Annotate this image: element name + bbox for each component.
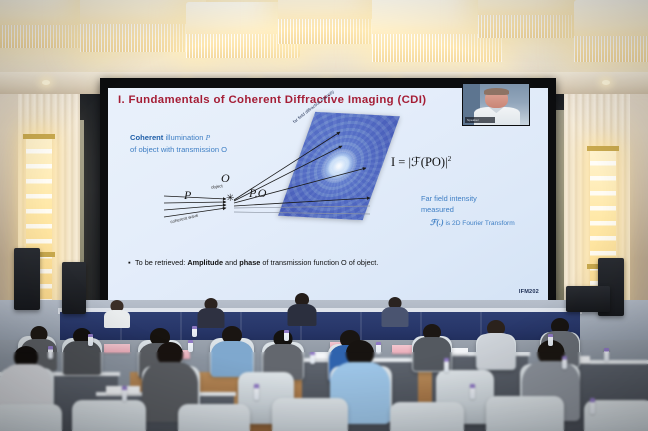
label-PO: P.O — [249, 186, 266, 201]
ft-symbol: ℱ(.) — [430, 218, 444, 227]
chair — [0, 404, 62, 431]
chair — [486, 396, 564, 431]
water-bottle — [188, 340, 193, 352]
chair — [178, 404, 250, 431]
ceiling-light-panel — [574, 0, 648, 62]
intro-rest: illumination — [163, 133, 205, 142]
equation-exponent: 2 — [448, 154, 452, 163]
loudspeaker-left — [14, 248, 40, 310]
stage-attendee — [382, 297, 408, 325]
slide-footer-logo: IFM202 — [519, 289, 539, 295]
water-bottle — [470, 384, 475, 399]
stage-attendee — [198, 298, 224, 326]
object-star-icon: ✳ — [226, 194, 235, 203]
water-bottle — [590, 398, 595, 414]
audience-member — [478, 320, 514, 370]
bullet-mid: and — [223, 258, 239, 267]
name-card — [104, 344, 130, 353]
audience-member — [64, 328, 100, 374]
intro-bold: Coherent — [130, 133, 163, 142]
diffraction-pattern-image — [278, 112, 400, 220]
bullet-bold-amplitude: Amplitude — [187, 258, 223, 267]
water-bottle — [562, 356, 567, 369]
water-bottle — [548, 334, 553, 346]
water-bottle — [444, 358, 449, 372]
bullet-bold-phase: phase — [239, 258, 260, 267]
downlight — [602, 80, 610, 85]
intro-symbol-P: P — [206, 133, 211, 142]
water-bottle — [122, 386, 127, 401]
far-field-caption: Far field intensity measured — [421, 193, 477, 215]
chair — [72, 400, 146, 431]
sconce-cap-top — [587, 146, 619, 151]
label-P: P — [184, 188, 191, 203]
ft-note-text: is 2D Fourier Transform — [444, 220, 515, 227]
intro-line2: of object with transmission O — [130, 145, 227, 154]
far-field-line1: Far field intensity — [421, 194, 477, 203]
bullet-pre: To be retrieved: — [135, 258, 187, 267]
av-equipment — [566, 286, 610, 312]
speaker-nametag-label: Speaker — [465, 117, 495, 122]
chair — [272, 398, 348, 431]
slide-intro-text: Coherent illumination P of object with t… — [130, 132, 227, 156]
speaker-nametag: Speaker — [465, 117, 495, 123]
sconce-cap-top — [23, 134, 55, 139]
water-bottle — [604, 348, 609, 361]
downlight — [42, 80, 50, 85]
water-bottle — [192, 326, 197, 337]
audience-member — [212, 326, 252, 376]
conference-room-photo: I. Fundamentals of Coherent Diffractive … — [0, 0, 648, 431]
stage-attendee — [288, 293, 316, 325]
water-bottle — [48, 346, 53, 359]
label-coherent-wave: coherent wave — [170, 213, 199, 225]
label-O: O — [221, 171, 230, 186]
loudspeaker-left-2 — [62, 262, 86, 314]
water-bottle — [310, 352, 315, 364]
bullet-marker: ▪ — [128, 258, 135, 267]
water-bottle — [376, 342, 381, 354]
slide-title: I. Fundamentals of Coherent Diffractive … — [118, 94, 426, 106]
water-bottle — [88, 334, 93, 346]
name-card-label — [104, 344, 130, 346]
bullet-post: of transmission function O of object. — [260, 258, 378, 267]
equation-body: I = |ℱ(PO)| — [391, 155, 448, 169]
far-field-line2: measured — [421, 205, 454, 214]
water-bottle — [284, 330, 289, 341]
remote-speaker-video: Speaker — [462, 83, 530, 126]
fourier-transform-note: ℱ(.) is 2D Fourier Transform — [430, 218, 515, 227]
stage-attendee — [104, 300, 130, 326]
chair — [390, 402, 464, 431]
speaker-hair — [484, 88, 509, 95]
water-bottle — [254, 384, 259, 400]
intensity-equation: I = |ℱ(PO)|2 — [391, 154, 451, 170]
slide-bullet: ▪To be retrieved: Amplitude and phase of… — [128, 258, 378, 267]
